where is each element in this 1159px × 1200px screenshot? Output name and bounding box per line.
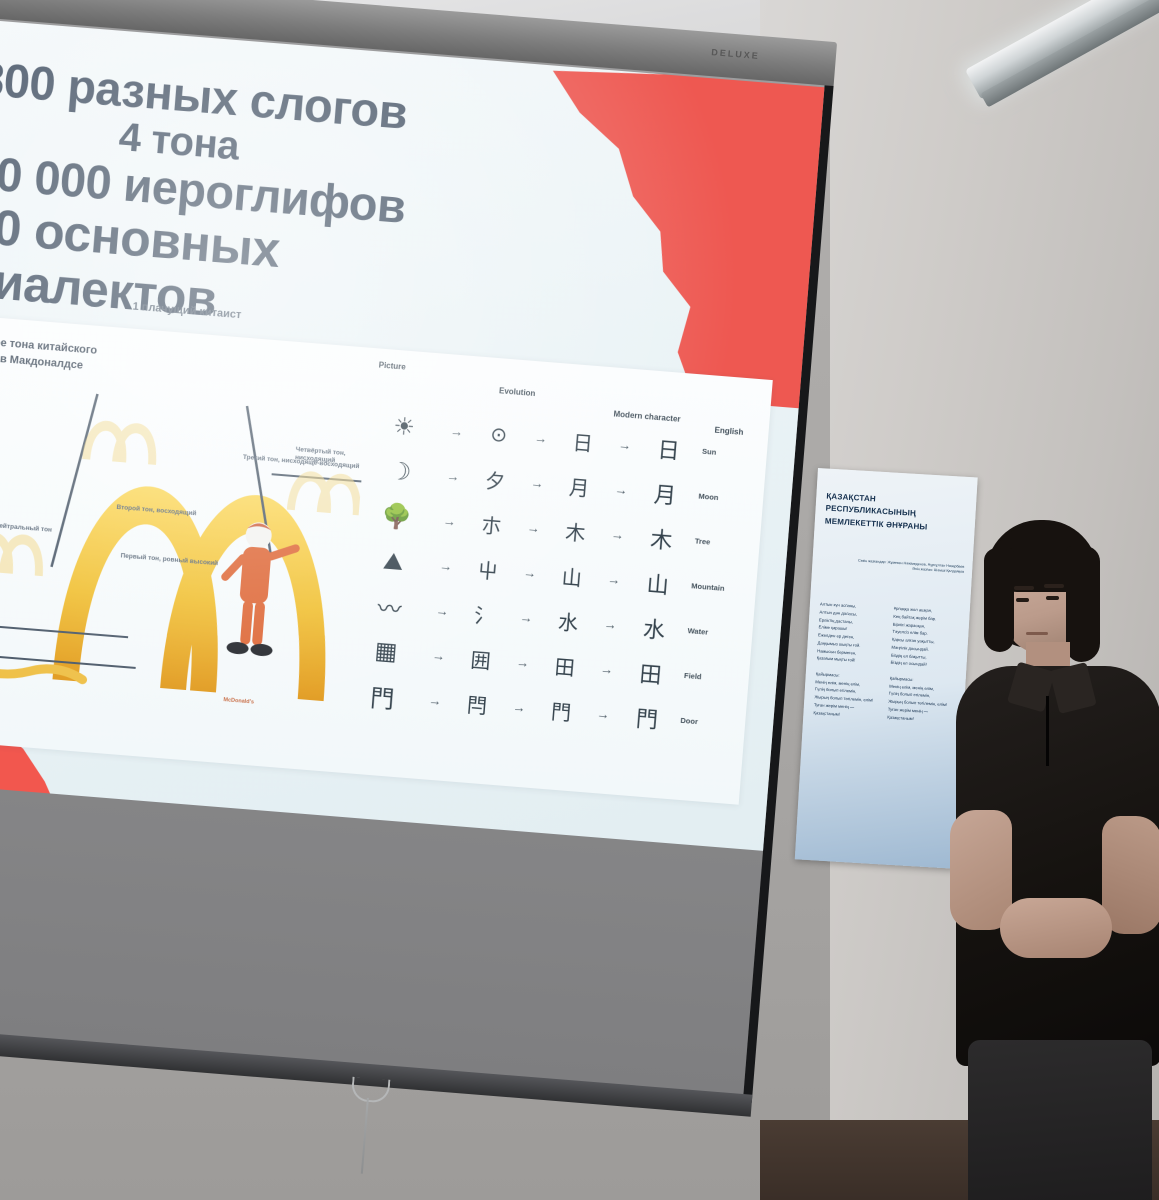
slide-content-panel: Четыре тона китайского языка в Макдоналд… [0, 314, 773, 805]
poster-authors-note: Сөзін жазғандар: Жұмекен Нәжімеденов, Нұ… [852, 558, 964, 575]
column-header-picture: Picture [378, 360, 406, 371]
cell-ancient: 屮 [461, 553, 514, 586]
cell-picture: ☀ [367, 410, 442, 445]
cell-modern: 門 [618, 699, 675, 735]
presenter-arm-left [950, 810, 1012, 930]
presenter-hands [1000, 898, 1112, 958]
cell-arrow: → [509, 609, 543, 627]
cell-arrow: → [586, 705, 620, 723]
cell-arrow: → [597, 571, 631, 589]
presenter-trousers [968, 1040, 1152, 1200]
cell-arrow: → [422, 647, 456, 665]
classroom-presentation-scene: DELUXE 800 разных слогов 4 тона 80 000 и… [0, 0, 1159, 1200]
projected-slide: 800 разных слогов 4 тона 80 000 иероглиф… [0, 17, 824, 851]
cell-modern: 山 [629, 565, 686, 601]
cell-middle: 水 [542, 604, 595, 637]
cell-arrow: → [513, 564, 547, 582]
cell-ancient: 夕 [469, 463, 522, 496]
presenter [950, 520, 1159, 1200]
cell-english: Water [681, 626, 748, 640]
presenter-hair-right [1066, 546, 1100, 662]
cell-middle: 田 [538, 649, 591, 682]
cell-modern: 水 [626, 610, 683, 646]
tone-diagram: Четыре тона китайского языка в Макдоналд… [0, 322, 371, 764]
character-rows: ☀→⊙→日→日Sun☽→夕→月→月Moon🌳→朩→木→木Tree⛰→屮→山→山M… [344, 402, 764, 748]
cell-ancient: 囲 [454, 643, 507, 676]
cell-modern: 木 [633, 520, 690, 556]
cell-arrow: → [600, 526, 634, 544]
poster-lyrics-right: Ұрпаққа жол ашқан, Кең байтақ жерім бар.… [887, 605, 960, 725]
cell-arrow: → [506, 654, 540, 672]
screen-brand-label: DELUXE [711, 47, 760, 61]
screen-pull-cord[interactable] [361, 1098, 369, 1174]
screen-pull-ring-icon[interactable] [351, 1077, 391, 1104]
cell-modern: 日 [640, 430, 697, 466]
cell-middle: 月 [553, 470, 606, 503]
cell-ancient: 閂 [451, 687, 504, 720]
cell-arrow: → [432, 512, 466, 530]
cell-middle: 山 [545, 560, 598, 593]
cell-english: Sun [696, 446, 763, 460]
cell-arrow: → [418, 692, 452, 710]
presenter-shirt-placket [1046, 696, 1049, 766]
cell-arrow: → [440, 423, 474, 441]
character-evolution-table: Picture Evolution Modern character Engli… [340, 354, 768, 798]
cell-english: Door [674, 715, 741, 729]
projector-screen: DELUXE 800 разных слогов 4 тона 80 000 и… [0, 0, 837, 1198]
cell-arrow: → [436, 467, 470, 485]
slide-headline: 800 разных слогов 4 тона 80 000 иероглиф… [0, 54, 559, 352]
cell-ancient: 氵 [458, 598, 511, 631]
cell-arrow: → [502, 699, 536, 717]
cell-arrow: → [590, 660, 624, 678]
poster-lyrics-left: Алтын күн аспаны, Алтын дән даласы, Ерлі… [813, 600, 886, 720]
presenter-brow-right [1044, 584, 1064, 588]
column-header-evolution: Evolution [499, 386, 536, 398]
cell-english: Moon [692, 491, 759, 505]
cell-picture: ☽ [363, 455, 438, 490]
cell-english: Mountain [685, 581, 752, 595]
presenter-eye-left [1016, 598, 1029, 602]
cell-picture: 🌳 [360, 500, 435, 535]
golden-arches-icon [0, 322, 371, 764]
poster-title: ҚАЗАҚСТАН РЕСПУБЛИКАСЫНЫҢ МЕМЛЕКЕТТІК ӘН… [824, 491, 966, 536]
cell-arrow: → [608, 436, 642, 454]
presenter-arm-right [1102, 816, 1159, 934]
cell-picture: 〰 [352, 586, 427, 627]
cell-arrow: → [593, 616, 627, 634]
cell-middle: 木 [549, 515, 602, 548]
cell-picture: ⛰ [356, 545, 431, 579]
cell-picture: ▦ [349, 634, 424, 669]
cell-arrow: → [516, 519, 550, 537]
cell-middle: 門 [535, 694, 588, 727]
cell-arrow: → [429, 557, 463, 575]
cell-english: Field [678, 670, 745, 684]
cell-ancient: ⊙ [472, 420, 525, 449]
presenter-mouth [1026, 632, 1048, 635]
cell-picture: 門 [345, 676, 420, 717]
presenter-brow-left [1014, 586, 1034, 590]
cell-middle: 日 [556, 425, 609, 458]
cell-english: Tree [689, 536, 756, 550]
cell-arrow: → [425, 602, 459, 620]
poster-lyrics: Алтын күн аспаны, Алтын дән даласы, Ерлі… [813, 600, 962, 725]
cell-arrow: → [524, 429, 558, 447]
presenter-hair-left [984, 548, 1014, 652]
cell-arrow: → [604, 481, 638, 499]
presenter-eye-right [1046, 596, 1059, 600]
cell-modern: 田 [622, 655, 679, 691]
cell-ancient: 朩 [465, 508, 518, 541]
cell-arrow: → [520, 474, 554, 492]
cell-modern: 月 [637, 475, 694, 511]
